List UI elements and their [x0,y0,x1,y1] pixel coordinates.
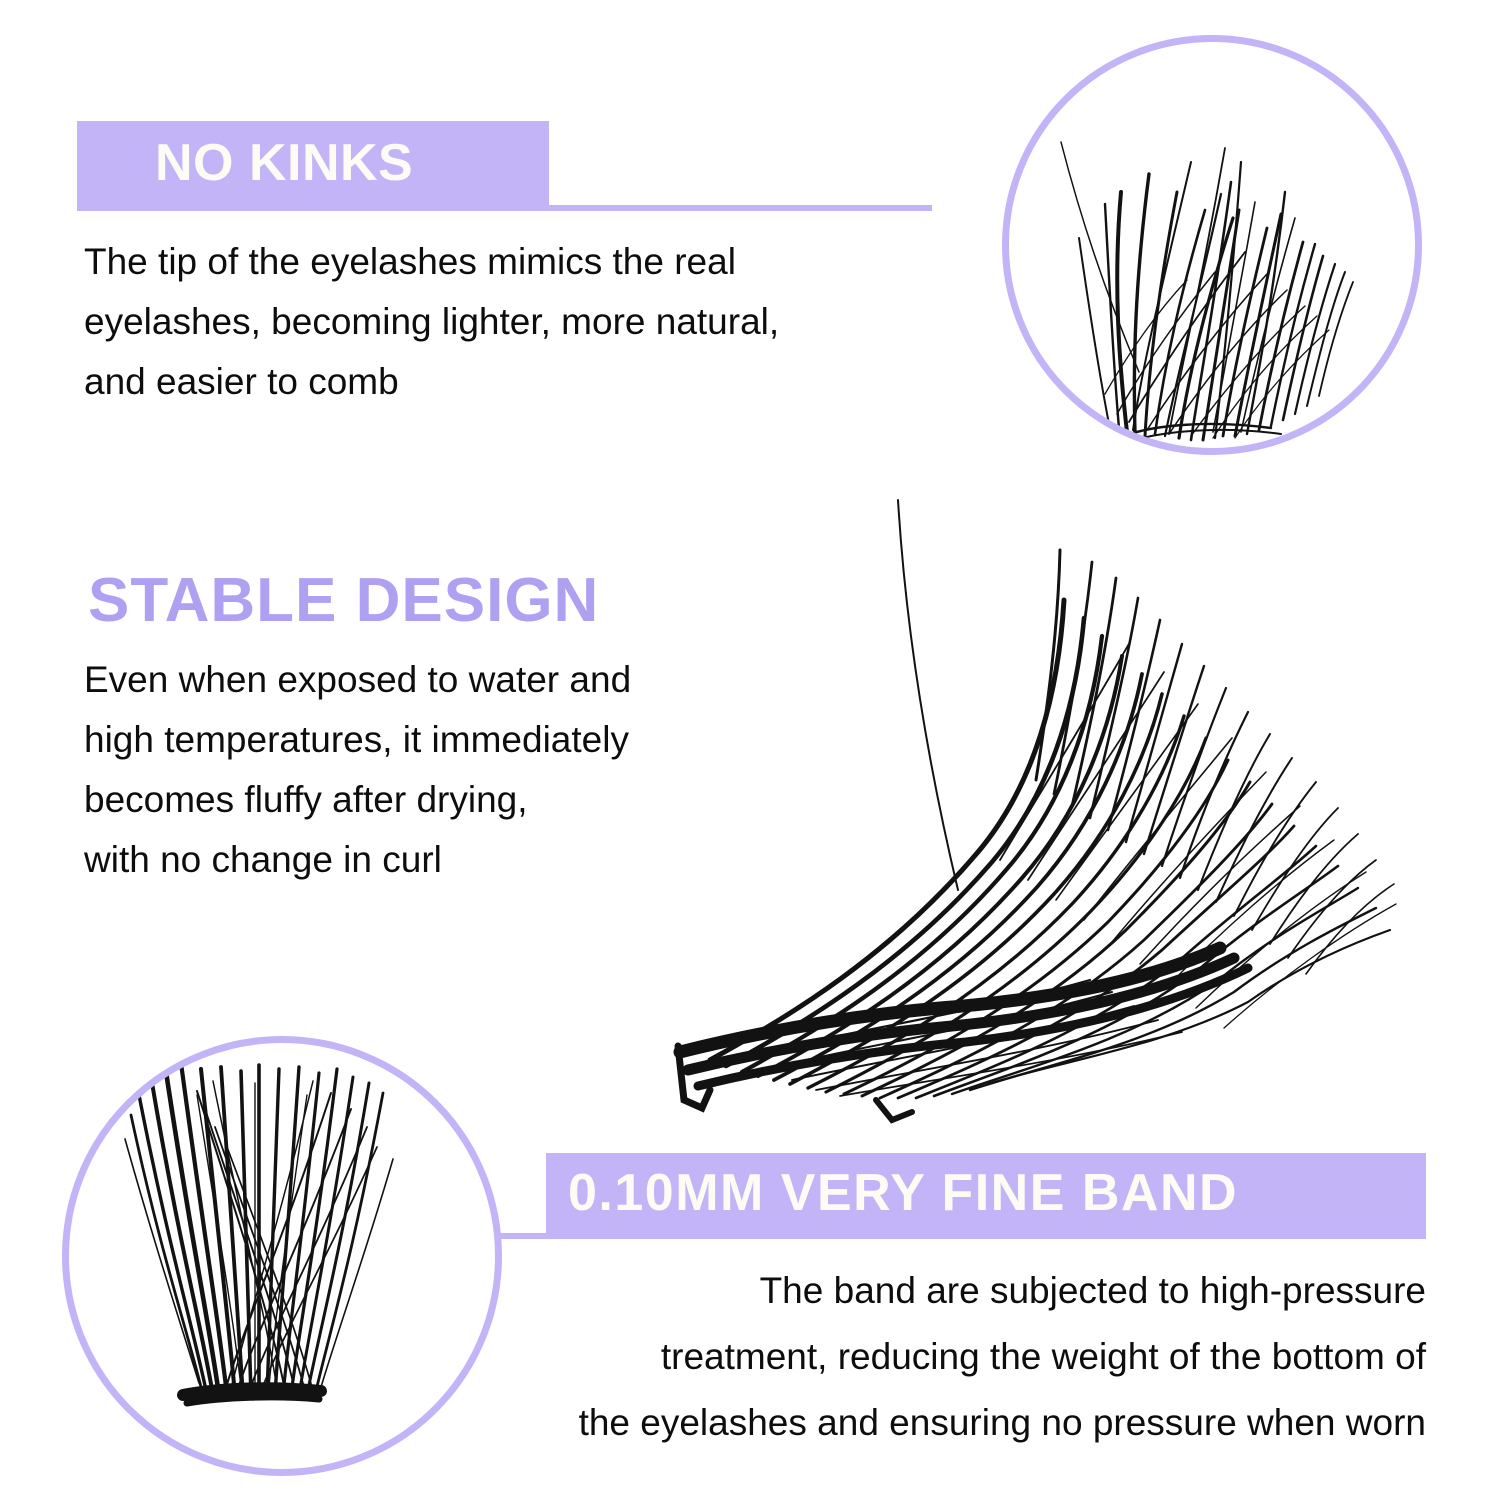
feature-heading-fine-band: 0.10MM VERY FINE BAND [546,1153,1426,1233]
false-eyelash-strip-image [640,460,1460,1140]
feature-heading-stable-design: STABLE DESIGN [88,565,599,636]
connector-rule-top [77,205,932,211]
connector-rule-bottom [420,1233,1426,1239]
feature-heading-no-kinks: NO KINKS [77,121,549,205]
infographic-page: NO KINKS The tip of the eyelashes mimics… [0,0,1500,1500]
feature-body-fine-band: The band are subjected to high-pressure … [436,1258,1426,1456]
feature-body-no-kinks: The tip of the eyelashes mimics the real… [84,232,984,412]
lash-tips-closeup-image [1002,35,1422,455]
lash-band-closeup-image [62,1036,502,1476]
